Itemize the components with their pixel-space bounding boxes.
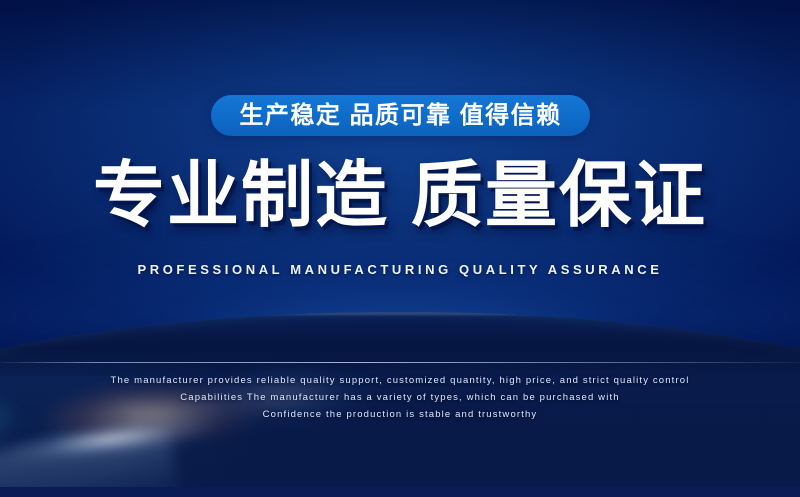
body-line-1: The manufacturer provides reliable quali… (0, 372, 800, 389)
headline-title: 专业制造 质量保证 (0, 160, 800, 232)
slogan-badge-text: 生产稳定 品质可靠 值得信赖 (239, 104, 561, 128)
subtitle-english: PROFESSIONAL MANUFACTURING QUALITY ASSUR… (0, 263, 800, 276)
promo-banner: 生产稳定 品质可靠 值得信赖 专业制造 质量保证 PROFESSIONAL MA… (0, 0, 800, 497)
body-copy: The manufacturer provides reliable quali… (0, 372, 800, 423)
body-line-3: Confidence the production is stable and … (0, 406, 800, 423)
slogan-badge: 生产稳定 品质可靠 值得信赖 (211, 95, 590, 136)
banner-content: 生产稳定 品质可靠 值得信赖 专业制造 质量保证 PROFESSIONAL MA… (0, 0, 800, 497)
body-line-2: Capabilities The manufacturer has a vari… (0, 389, 800, 406)
